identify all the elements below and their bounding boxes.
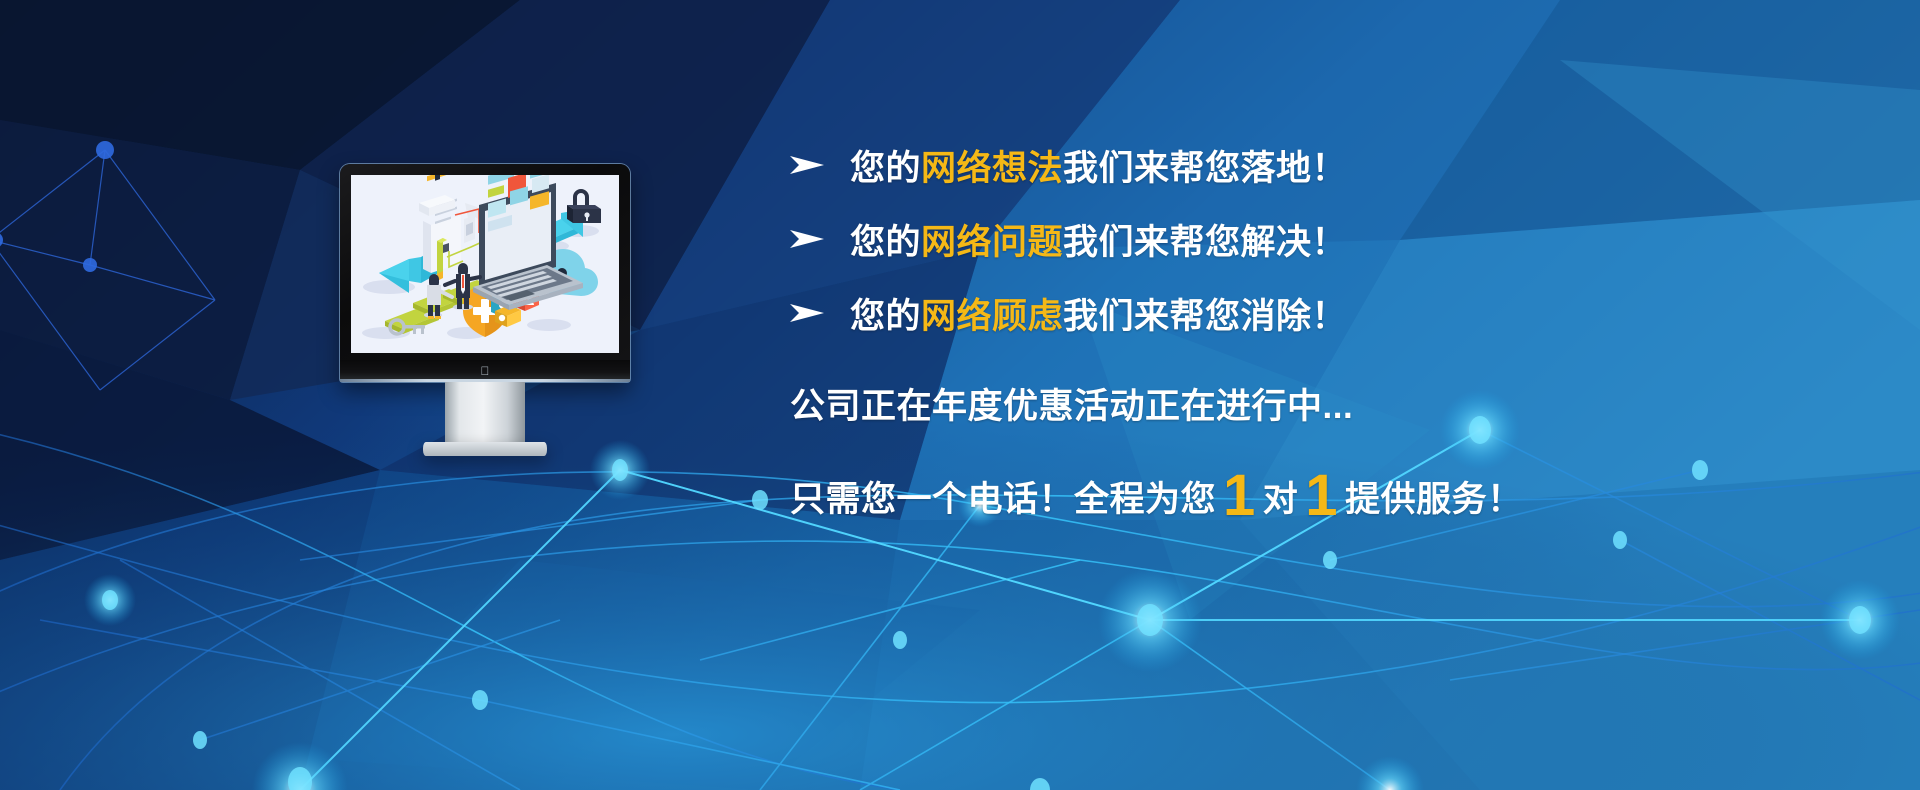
bullet-3-prefix: 您的 — [850, 297, 921, 336]
bullet-text-2: 您的网络问题我们来帮您解决！ — [850, 214, 1347, 265]
bullet-3-suffix: 我们来帮您消除！ — [1063, 297, 1347, 336]
promo-2-part3: 提供服务！ — [1345, 480, 1523, 519]
bullet-2-prefix: 您的 — [850, 223, 921, 262]
bullet-text-3: 您的网络顾虑我们来帮您消除！ — [850, 288, 1347, 339]
arrow-right-icon — [790, 302, 824, 324]
arrow-right-icon — [790, 154, 824, 176]
monitor-stand-foot — [423, 442, 547, 456]
monitor-bezel:  — [340, 164, 630, 382]
promo-line-2: 只需您一个电话！全程为您1对1提供服务！ — [790, 471, 1790, 522]
apple-monitor-mockup:  — [340, 164, 630, 414]
promo-number-one-a: 1 — [1216, 463, 1263, 528]
monitor-screen — [351, 175, 619, 353]
bullet-text-1: 您的网络想法我们来帮您落地！ — [850, 140, 1347, 191]
isometric-network-security-illustration — [351, 175, 619, 353]
bullet-1-prefix: 您的 — [850, 149, 921, 188]
arrow-right-icon — [790, 228, 824, 250]
bullet-row-1: 您的网络想法我们来帮您落地！ — [790, 128, 1790, 202]
promo-2-part2: 对 — [1263, 480, 1299, 519]
bullet-1-suffix: 我们来帮您落地！ — [1063, 149, 1347, 188]
promo-number-one-b: 1 — [1298, 463, 1345, 528]
monitor-chin:  — [340, 360, 630, 382]
promo-2-part1: 只需您一个电话！全程为您 — [790, 480, 1216, 519]
marketing-copy: 您的网络想法我们来帮您落地！ 您的网络问题我们来帮您解决！ 您的网络顾虑我们来帮… — [790, 128, 1790, 522]
bullet-2-suffix: 我们来帮您解决！ — [1063, 223, 1347, 262]
bullet-1-highlight: 网络想法 — [921, 149, 1063, 188]
apple-logo-icon:  — [480, 365, 490, 377]
promo-banner:  您的网络想法我们来帮您落地！ 您的网络问题我们来帮您解决！ — [0, 0, 1920, 790]
bullet-row-3: 您的网络顾虑我们来帮您消除！ — [790, 276, 1790, 350]
monitor-stand-neck — [445, 382, 525, 448]
bullet-2-highlight: 网络问题 — [921, 223, 1063, 262]
bullet-row-2: 您的网络问题我们来帮您解决！ — [790, 202, 1790, 276]
promo-line-1: 公司正在年度优惠活动正在进行中... — [790, 378, 1790, 429]
bullet-3-highlight: 网络顾虑 — [921, 297, 1063, 336]
